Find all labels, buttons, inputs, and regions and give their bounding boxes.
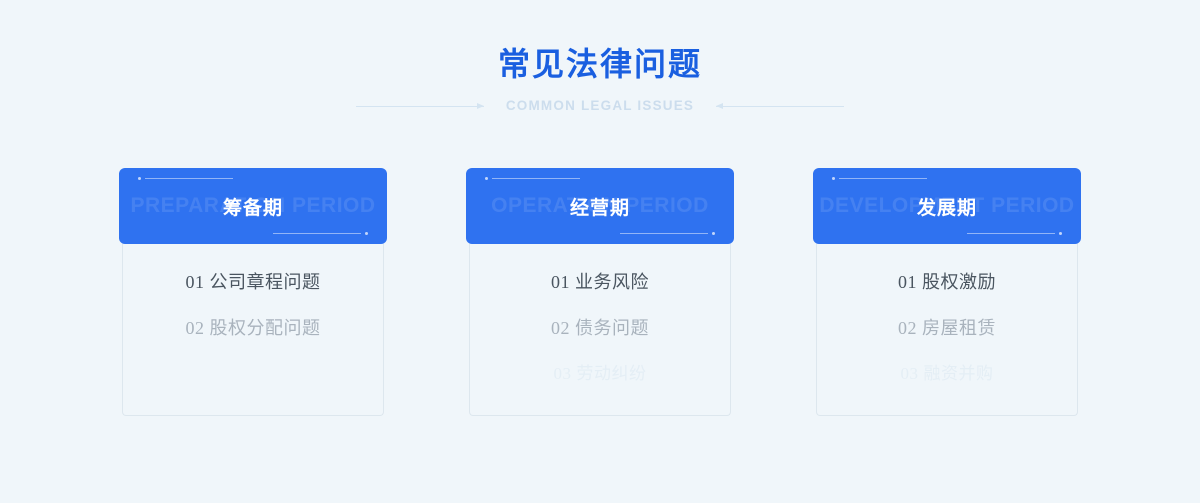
list-item-number: 01: [186, 272, 205, 292]
list-item-label: 公司章程问题: [210, 272, 321, 292]
page-subtitle: COMMON LEGAL ISSUES: [484, 95, 716, 117]
stage-card-development[interactable]: DEVELOPMENT PERIOD 发展期 01股权激励 02房屋租赁 03融…: [813, 168, 1081, 416]
list-item-number: 02: [551, 318, 570, 338]
header-line-bottom: [967, 233, 1055, 234]
list-item-label: 业务风险: [575, 272, 649, 292]
list-item-number: 03: [901, 364, 919, 383]
list-item-number: 02: [898, 318, 917, 338]
list-item-label: 股权激励: [922, 272, 996, 292]
list-item[interactable]: 03劳动纠纷: [470, 363, 730, 385]
list-item[interactable]: 02股权分配问题: [123, 317, 383, 339]
stage-card-header[interactable]: OPERATION PERIOD 经营期: [466, 168, 734, 244]
list-item[interactable]: 02房屋租赁: [817, 317, 1077, 339]
decorative-line-right-bar: [716, 106, 844, 107]
header-line-bottom: [620, 233, 708, 234]
list-item[interactable]: 01业务风险: [470, 271, 730, 293]
list-item-number: 01: [898, 272, 917, 292]
header-dot-bottom: [712, 232, 715, 235]
decorative-line-left: [356, 101, 484, 112]
legal-issues-section: 常见法律问题 COMMON LEGAL ISSUES PREPARATION P…: [0, 0, 1200, 503]
list-item-label: 房屋租赁: [922, 318, 996, 338]
section-heading: 常见法律问题 COMMON LEGAL ISSUES: [0, 42, 1200, 117]
list-item[interactable]: 02债务问题: [470, 317, 730, 339]
stage-card-preparation[interactable]: PREPARATION PERIOD 筹备期 01公司章程问题 02股权分配问题: [119, 168, 387, 416]
list-item[interactable]: 01公司章程问题: [123, 271, 383, 293]
list-item-label: 债务问题: [575, 318, 649, 338]
subtitle-row: COMMON LEGAL ISSUES: [0, 95, 1200, 117]
decorative-line-left-bar: [356, 106, 484, 107]
stage-card-header[interactable]: PREPARATION PERIOD 筹备期: [119, 168, 387, 244]
stage-card-body: 01股权激励 02房屋租赁 03融资并购: [816, 244, 1078, 416]
list-item[interactable]: 03融资并购: [817, 363, 1077, 385]
cards-container: PREPARATION PERIOD 筹备期 01公司章程问题 02股权分配问题: [119, 168, 1081, 416]
stage-card-header[interactable]: DEVELOPMENT PERIOD 发展期: [813, 168, 1081, 244]
page-title: 常见法律问题: [0, 42, 1200, 86]
stage-card-operation[interactable]: OPERATION PERIOD 经营期 01业务风险 02债务问题 03劳动纠…: [466, 168, 734, 416]
list-item-number: 03: [554, 364, 572, 383]
list-item-number: 02: [186, 318, 205, 338]
stage-card-body: 01业务风险 02债务问题 03劳动纠纷: [469, 244, 731, 416]
list-item-label: 融资并购: [924, 364, 994, 383]
arrow-right-icon: [477, 103, 484, 109]
arrow-left-icon: [716, 103, 723, 109]
decorative-line-right: [716, 101, 844, 112]
list-item[interactable]: 01股权激励: [817, 271, 1077, 293]
list-item-number: 01: [551, 272, 570, 292]
list-item[interactable]: [123, 363, 383, 385]
list-item-label: 劳动纠纷: [577, 364, 647, 383]
header-dot-bottom: [365, 232, 368, 235]
header-dot-bottom: [1059, 232, 1062, 235]
stage-card-body: 01公司章程问题 02股权分配问题: [122, 244, 384, 416]
list-item-label: 股权分配问题: [210, 318, 321, 338]
header-line-bottom: [273, 233, 361, 234]
